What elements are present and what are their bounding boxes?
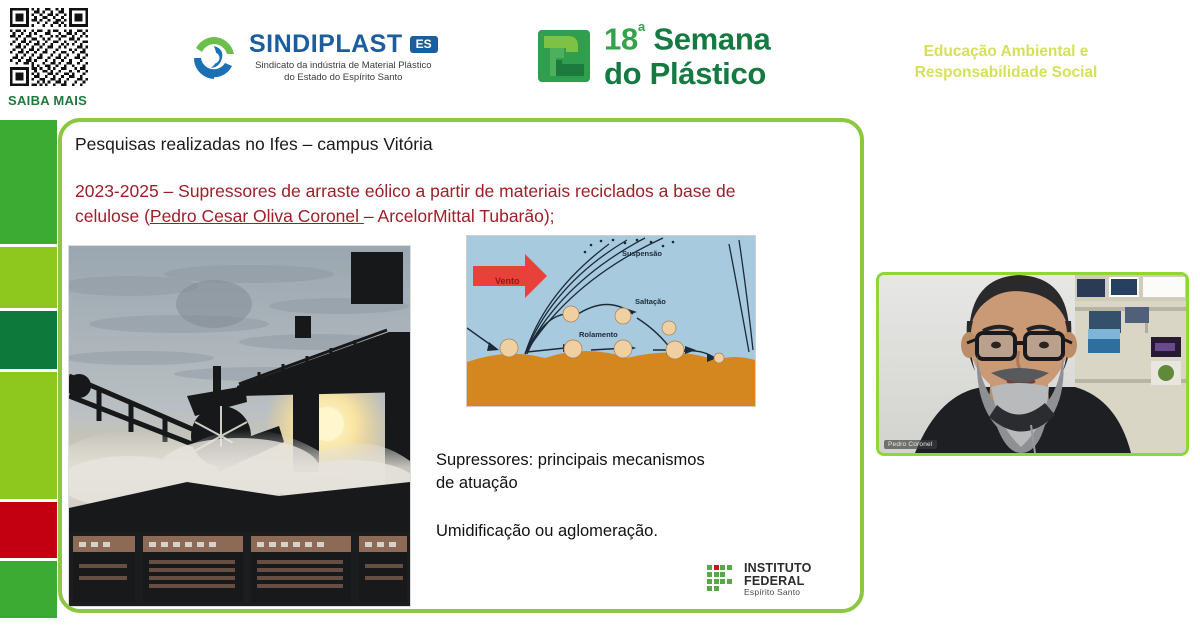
strip-block-3 [0, 311, 57, 369]
slide-caption-humidification: Umidificação ou aglomeração. [436, 522, 658, 541]
event-line1-word: Semana [653, 21, 770, 56]
ifes-logo: INSTITUTO FEDERAL Espírito Santo [707, 562, 860, 597]
top-banner: SAIBA MAIS SINDIPLAST ES Si [0, 0, 1200, 118]
event-line2: do Plástico [604, 58, 770, 89]
sindiplast-subtitle-line1: Sindicato da indústria de Material Plást… [255, 60, 431, 71]
event-ordinal: ª [638, 21, 645, 43]
sindiplast-subtitle-line2: do Estado do Espírito Santo [284, 72, 402, 83]
event-logo: 18ª Semana do Plástico [536, 22, 770, 89]
strip-block-5 [0, 502, 57, 558]
participant-name-label: Pedro Coronel [884, 440, 937, 449]
semana-icon-svg [536, 28, 592, 84]
sindiplast-text: SINDIPLAST ES Sindicato da indústria de … [249, 32, 438, 84]
event-theme: Educação Ambiental e Responsabilidade So… [866, 42, 1146, 84]
presentation-slide[interactable]: Pesquisas realizadas no Ifes – campus Vi… [58, 118, 864, 613]
strip-block-2 [0, 247, 57, 308]
slide-body-researcher: Pedro Cesar Oliva Coronel [150, 206, 364, 226]
webcam-tile[interactable]: Pedro Coronel [876, 272, 1189, 456]
sindiplast-recycle-icon [188, 32, 240, 84]
diagram-label-saltation: Saltação [635, 297, 666, 306]
event-line1: 18ª Semana [604, 22, 770, 54]
sindiplast-es-badge: ES [410, 36, 438, 53]
ifes-grid-icon [707, 565, 737, 595]
qr-code-svg [10, 8, 88, 86]
sindiplast-name-row: SINDIPLAST ES [249, 32, 438, 57]
strip-block-1 [0, 120, 57, 244]
wind-erosion-diagram: Vento Suspensão [466, 235, 756, 407]
industrial-photo-svg [69, 246, 410, 606]
diagram-label-wind: Vento [495, 276, 520, 286]
event-theme-line2: Responsabilidade Social [915, 64, 1098, 81]
diagram-label-suspension: Suspensão [622, 249, 662, 258]
sindiplast-name: SINDIPLAST [249, 32, 403, 57]
event-theme-line1: Educação Ambiental e [924, 43, 1089, 60]
slide-caption-mechanisms: Supressores: principais mecanismos de at… [436, 449, 776, 495]
diagram-label-rolling: Rolamento [579, 330, 618, 339]
slide-body-text: 2023-2025 – Supressores de arraste eólic… [75, 179, 775, 230]
left-color-strip [0, 118, 57, 618]
slide-body-suffix: – ArcelorMittal Tubarão); [364, 206, 555, 226]
sindiplast-subtitle: Sindicato da indústria de Material Plást… [249, 60, 438, 84]
strip-block-6 [0, 561, 57, 618]
sindiplast-logo: SINDIPLAST ES Sindicato da indústria de … [188, 32, 438, 84]
screen-root: SAIBA MAIS SINDIPLAST ES Si [0, 0, 1200, 627]
slide-caption-mechanisms-line2: de atuação [436, 474, 518, 492]
strip-block-4 [0, 372, 57, 499]
wind-erosion-diagram-svg: Vento Suspensão [467, 236, 755, 406]
semana-pinwheel-icon [536, 28, 592, 84]
webcam-video-svg [879, 275, 1186, 453]
ifes-title: INSTITUTO FEDERAL [744, 562, 860, 588]
ifes-text: INSTITUTO FEDERAL Espírito Santo [744, 562, 860, 597]
ifes-subtitle: Espírito Santo [744, 588, 860, 597]
qr-code-icon[interactable] [10, 8, 88, 88]
slide-title: Pesquisas realizadas no Ifes – campus Vi… [75, 134, 433, 155]
ifes-grid-svg [707, 565, 737, 595]
slide-caption-mechanisms-line1: Supressores: principais mecanismos [436, 451, 705, 469]
sindiplast-icon-svg [188, 32, 240, 84]
event-number: 18 [604, 21, 638, 56]
slide-content: Pesquisas realizadas no Ifes – campus Vi… [62, 122, 860, 609]
industrial-photo [68, 245, 411, 607]
event-text: 18ª Semana do Plástico [604, 22, 770, 89]
saiba-mais-label: SAIBA MAIS [8, 93, 87, 108]
